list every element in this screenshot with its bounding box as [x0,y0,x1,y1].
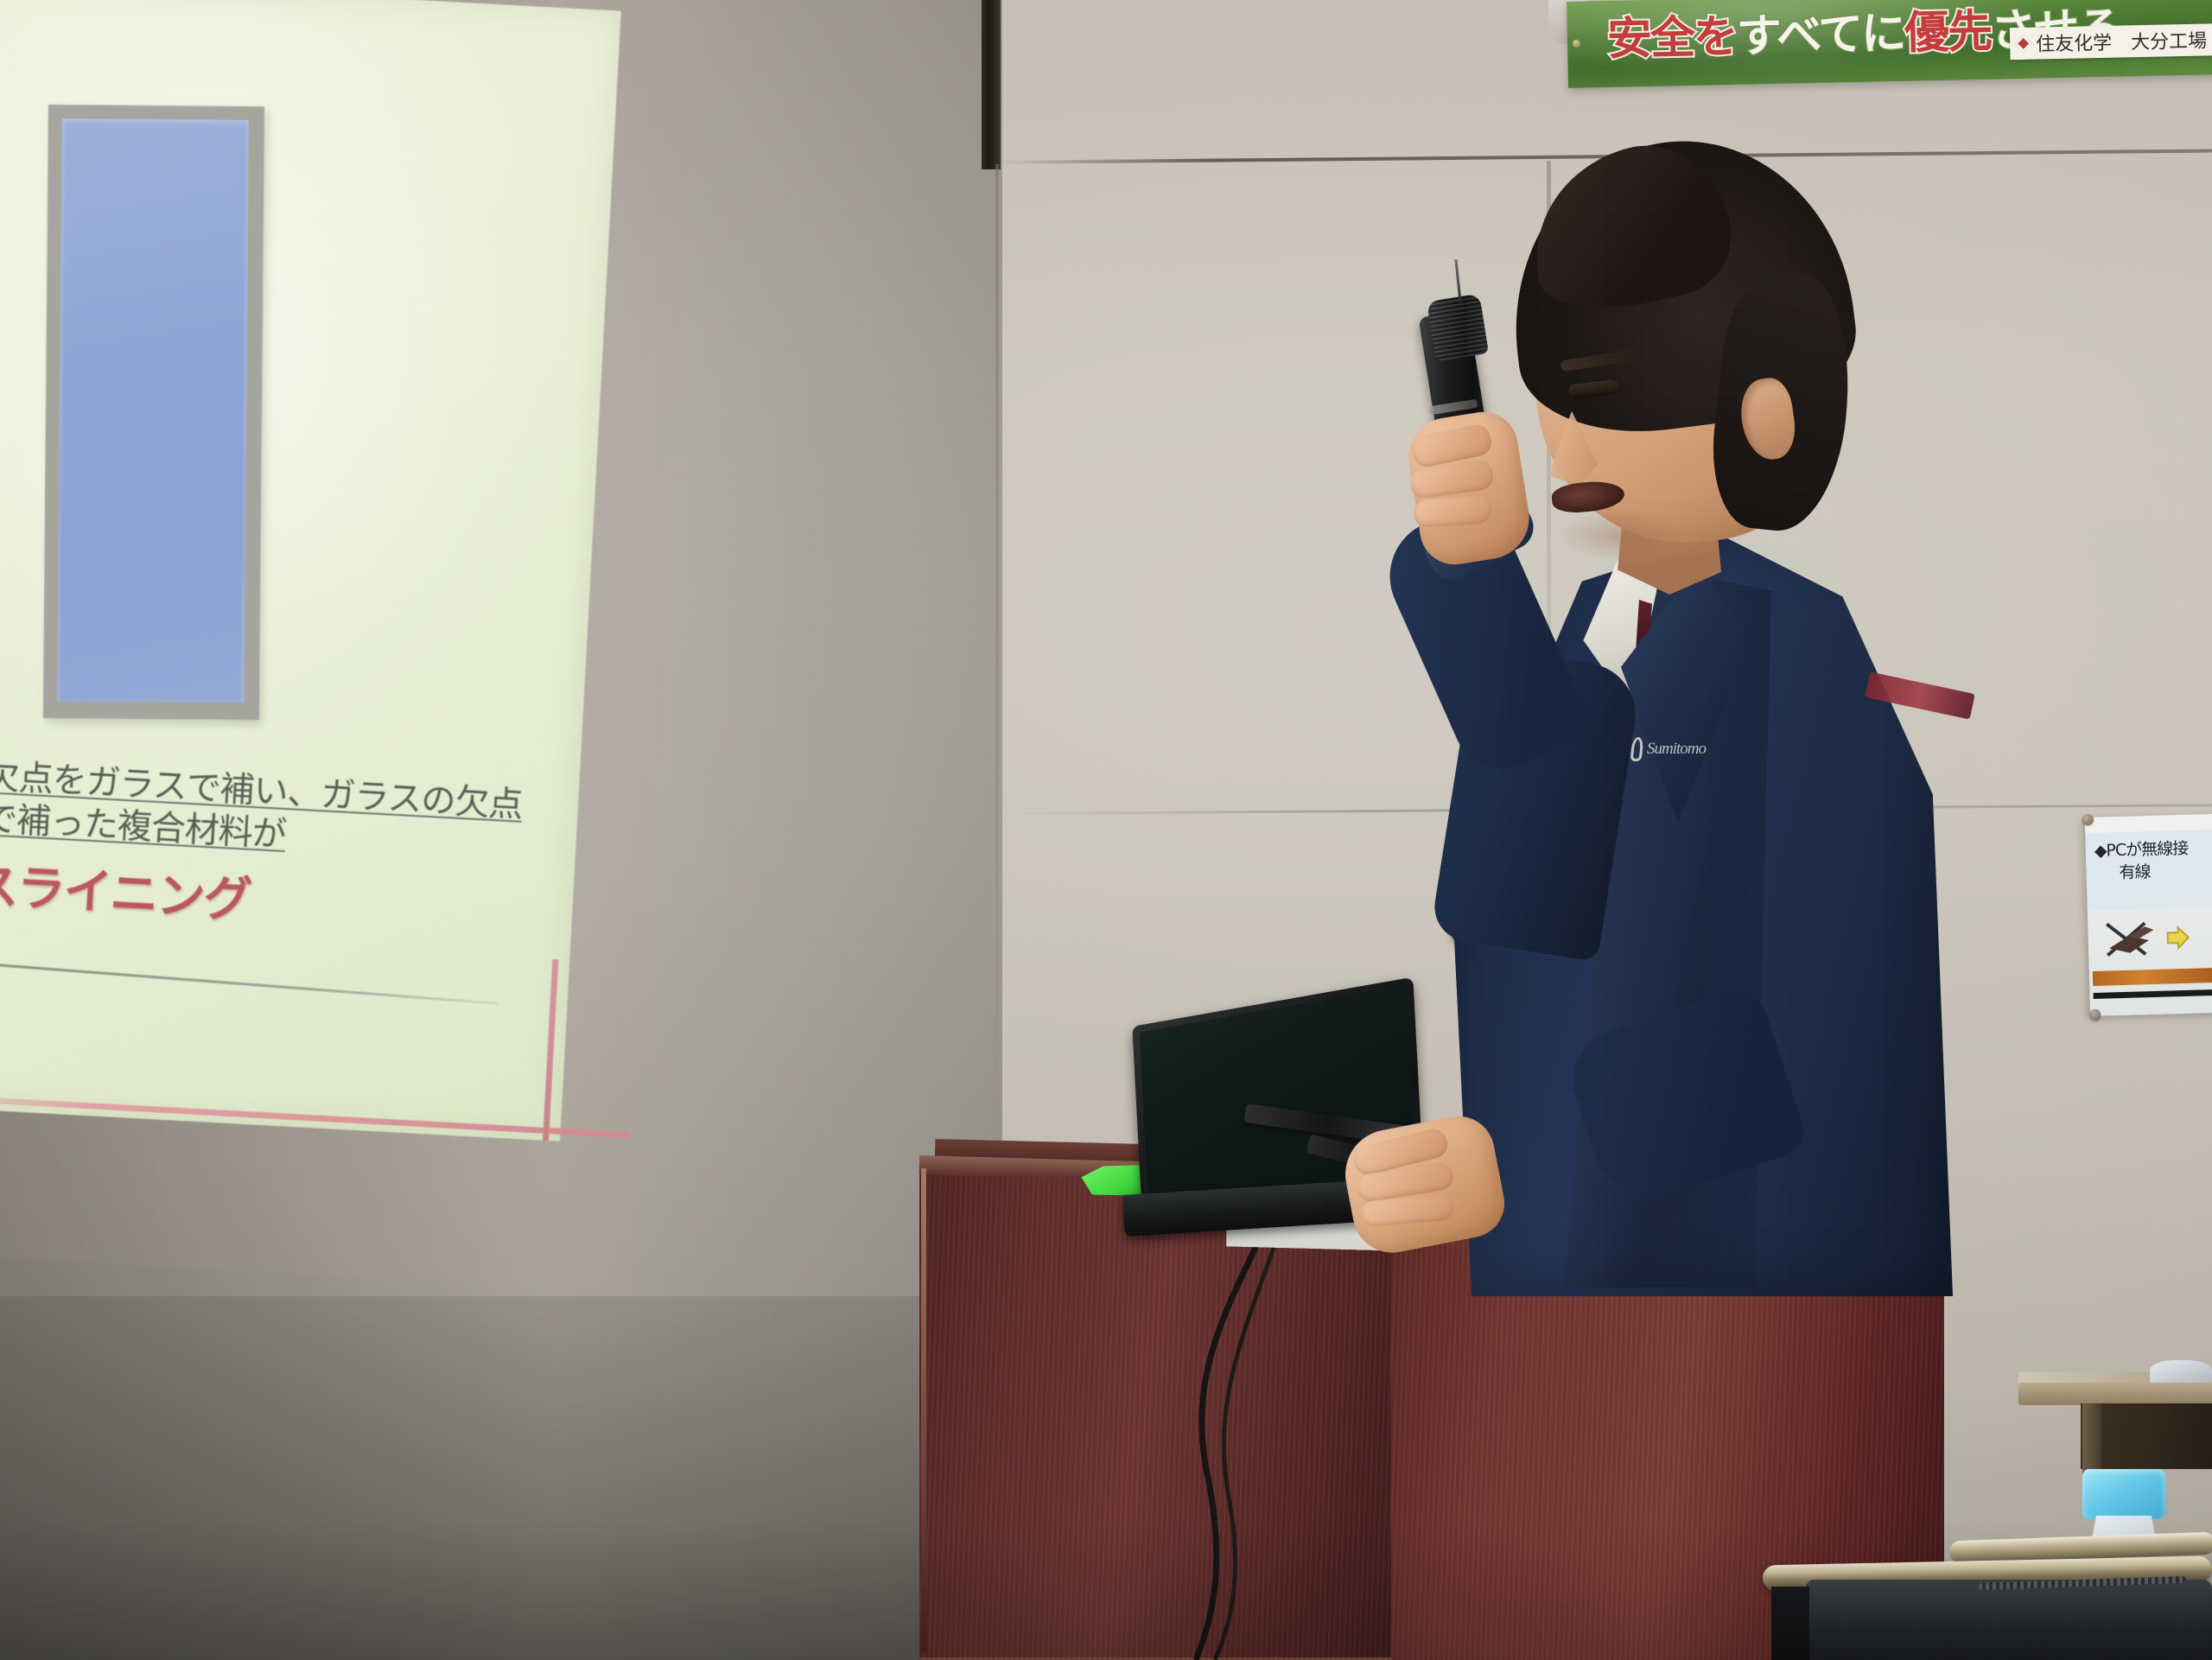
poster-line-2: 有線 [2119,859,2151,883]
no-wired-laptop-icon [2094,908,2200,964]
presentation-slide: 金属の欠点をガラスで補い、ガラスの欠点 を金属で補った複合材料が グラスライニン… [0,0,621,1142]
banner-company-name: 住友化学 大分工場 [2036,25,2208,56]
side-table-leg [2082,1403,2101,1478]
finger-3 [1413,495,1492,528]
poster-pin-top [2082,814,2094,825]
bottom-shade [0,1521,2212,1660]
banner-segment-1: 安全を [1606,11,1737,66]
banner-segment-3: 優先 [1904,6,1992,60]
water-bottle-cap [2082,1469,2165,1519]
presenter-chin-shadow [1555,510,1685,562]
wall-seam-vertical-left [995,164,999,1115]
jacket-logo-text: Sumitomo [1647,740,1706,759]
poster-orange-band [2093,968,2212,986]
microphone-antenna [1454,259,1461,302]
safety-slogan-banner: 安全をすべてに優先させる 住友化学 大分工場 [1567,0,2212,88]
jacket-embroidered-logo: Sumitomo [1631,735,1706,764]
poster-line-1: ◆PCが無線接 [2094,836,2188,862]
glass-lined-panel-fill [57,118,249,703]
banner-segment-2: すべてに [1736,8,1904,63]
glass-lined-panel-graphic [43,105,264,720]
poster-black-band [2093,989,2212,999]
banner-company-plate: 住友化学 大分工場 [2010,23,2212,60]
projection-screen: 金属の欠点をガラスで補い、ガラスの欠点 を金属で補った複合材料が グラスライニン… [0,0,690,1283]
pc-wireless-notice-poster: ◆PCが無線接 有線 [2085,814,2212,1016]
wall-panel-slot [982,0,1001,169]
company-mark-icon [1630,737,1644,761]
presenter: Sumitomo [1400,251,2022,1270]
presentation-photo-scene: 金属の欠点をガラスで補い、ガラスの欠点 を金属で補った複合材料が グラスライニン… [0,0,2212,1660]
sumitomo-diamond-icon [2014,34,2032,52]
side-table-top [2018,1383,2212,1405]
microphone-grille [1427,294,1489,362]
